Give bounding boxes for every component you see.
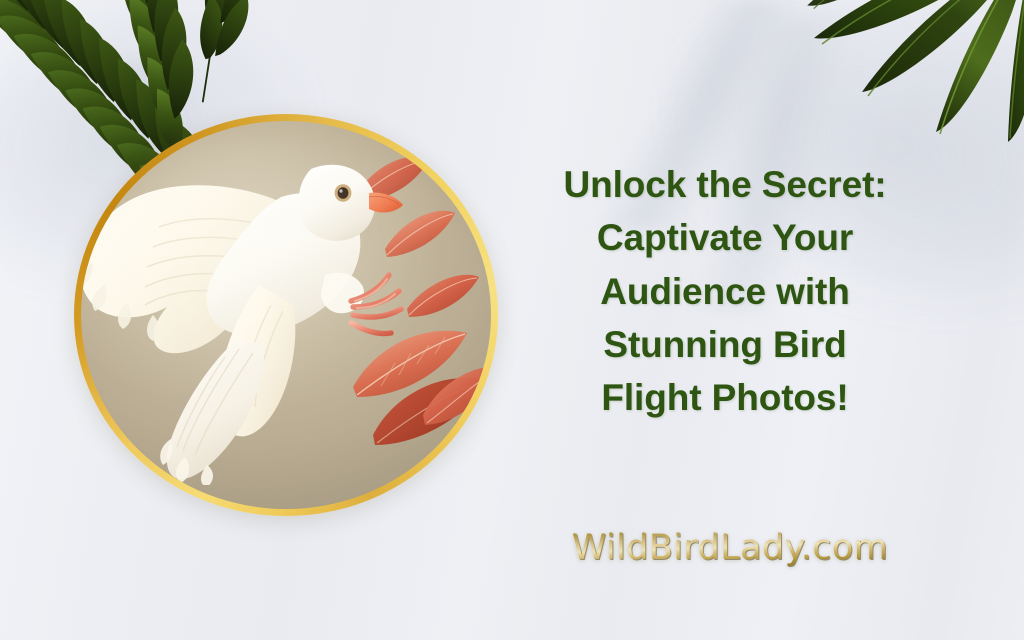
headline-line-5: Flight Photos! bbox=[520, 371, 930, 424]
circular-photo-frame bbox=[74, 114, 498, 516]
bird-photo bbox=[81, 121, 491, 509]
headline-line-3: Audience with bbox=[520, 265, 930, 318]
headline-line-2: Captivate Your bbox=[520, 211, 930, 264]
brand-logo: WildBirdLady.com bbox=[520, 528, 940, 568]
poster-canvas: Unlock the Secret: Captivate Your Audien… bbox=[0, 0, 1024, 640]
headline-line-4: Stunning Bird bbox=[520, 318, 930, 371]
headline-line-1: Unlock the Secret: bbox=[520, 158, 930, 211]
dove-icon bbox=[81, 135, 405, 485]
page-title: Unlock the Secret: Captivate Your Audien… bbox=[520, 158, 930, 424]
